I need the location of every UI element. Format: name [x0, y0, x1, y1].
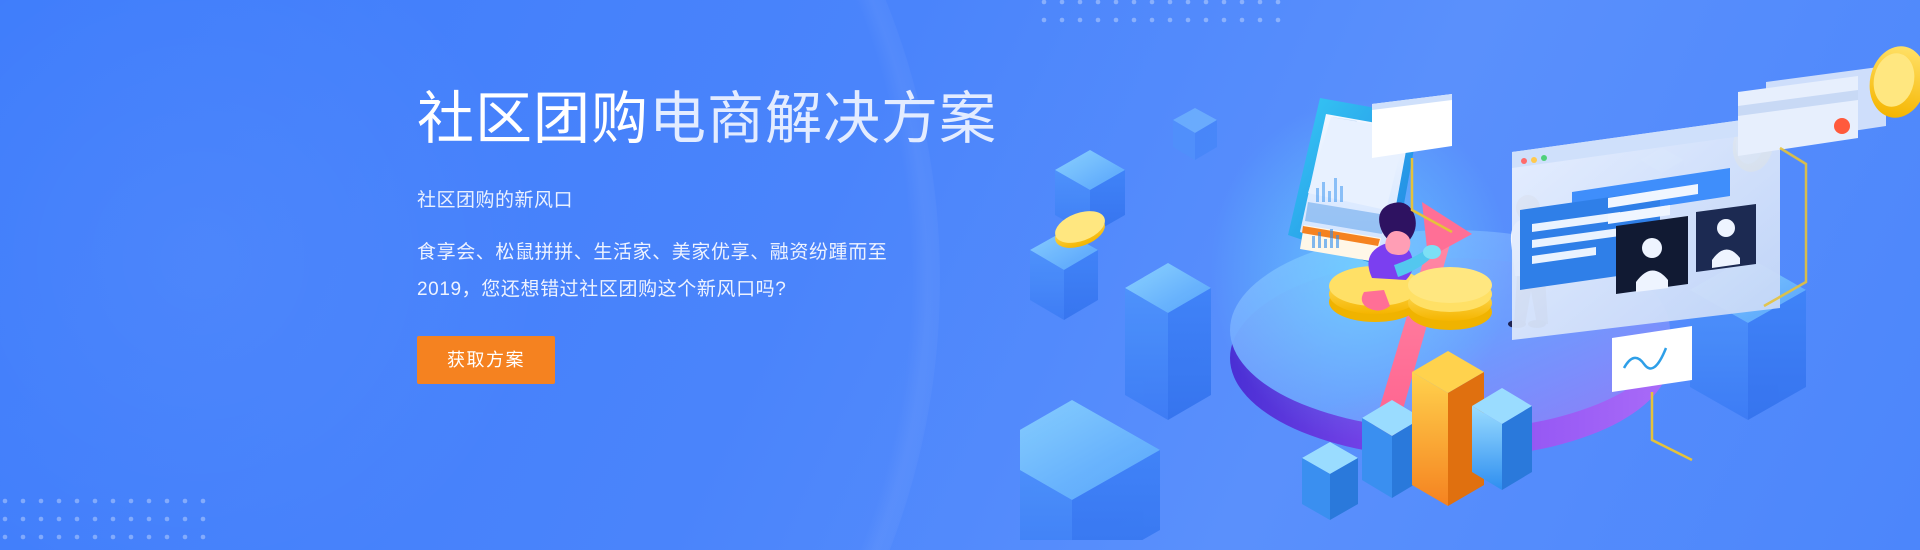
get-solution-button[interactable]: 获取方案	[417, 336, 555, 384]
page-title: 社区团购电商解决方案	[417, 88, 1037, 152]
hero-paragraph: 食享会、松鼠拼拼、生活家、美家优享、融资纷踵而至 2019，您还想错过社区团购这…	[417, 234, 1037, 308]
coin-stack-icon	[1408, 267, 1492, 330]
decor-tower-icon	[1125, 263, 1211, 420]
paragraph-line-2: 2019，您还想错过社区团购这个新风口吗?	[417, 271, 1037, 308]
decor-cube-small-icon	[1173, 108, 1217, 160]
decor-cube-large-icon	[1020, 400, 1160, 540]
headline-strong: 社区团购	[417, 87, 649, 151]
hero-illustration	[1020, 20, 1920, 540]
headline-soft: 电商解决方案	[649, 87, 997, 151]
hero-tagline: 社区团购的新风口	[417, 186, 1037, 216]
hero-copy: 社区团购电商解决方案 社区团购的新风口 食享会、松鼠拼拼、生活家、美家优享、融资…	[417, 88, 1037, 384]
hero-banner: 社区团购电商解决方案 社区团购的新风口 食享会、松鼠拼拼、生活家、美家优享、融资…	[0, 0, 1920, 550]
paragraph-line-1: 食享会、松鼠拼拼、生活家、美家优享、融资纷踵而至	[417, 234, 1037, 271]
credit-card-icon	[1738, 66, 1886, 156]
